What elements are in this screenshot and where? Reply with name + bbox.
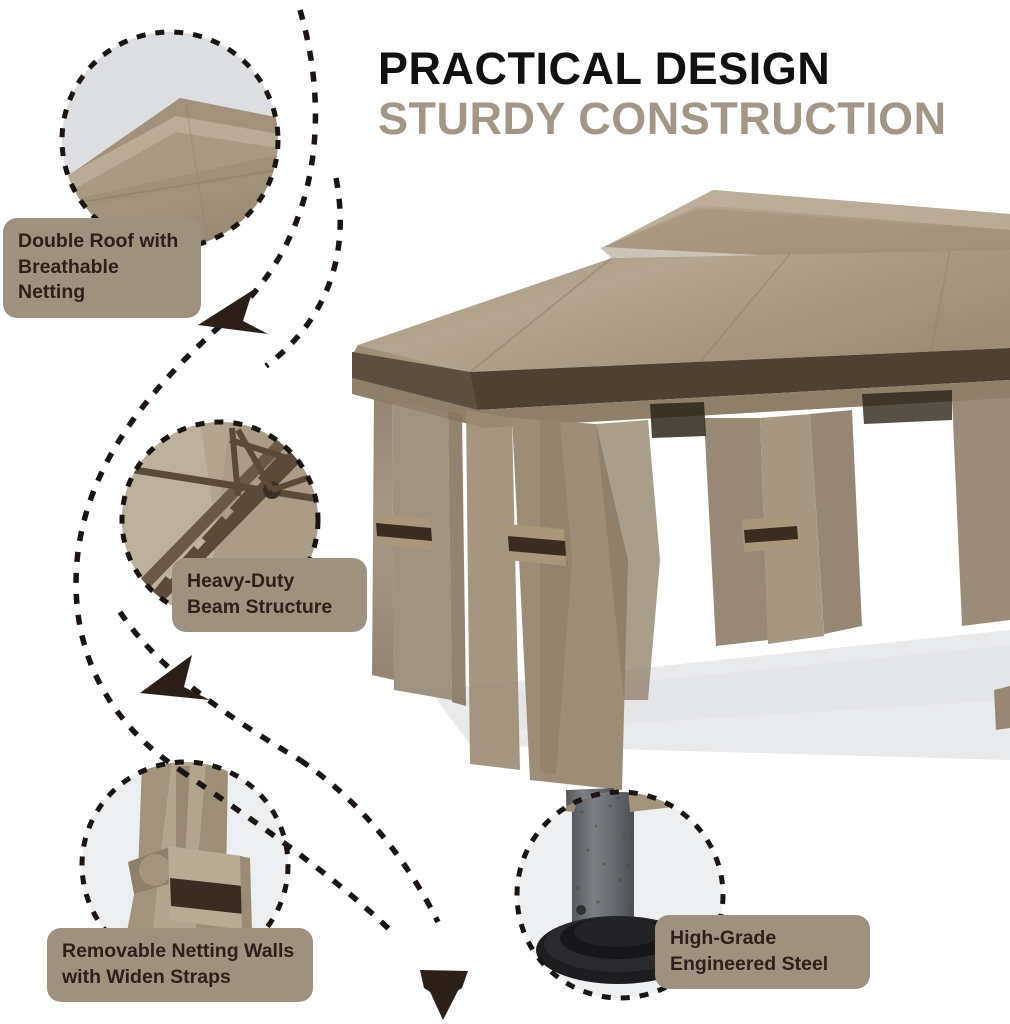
headline-block: PRACTICAL DESIGN STURDY CONSTRUCTION — [378, 44, 998, 145]
callout-heavy-duty-beam: Heavy-Duty Beam Structure — [172, 558, 367, 632]
infographic-canvas: PRACTICAL DESIGN STURDY CONSTRUCTION Dou… — [0, 0, 1010, 1024]
callout-removable-netting-walls: Removable Netting Walls with Widen Strap… — [47, 928, 313, 1002]
headline-secondary: STURDY CONSTRUCTION — [378, 94, 998, 144]
gazebo-product-illustration — [0, 0, 1010, 1024]
callout-high-grade-steel: High-Grade Engineered Steel — [655, 915, 870, 989]
headline-primary: PRACTICAL DESIGN — [378, 44, 998, 94]
callout-double-roof: Double Roof with Breathable Netting — [3, 218, 201, 318]
gazebo-main-photo — [352, 190, 1010, 906]
